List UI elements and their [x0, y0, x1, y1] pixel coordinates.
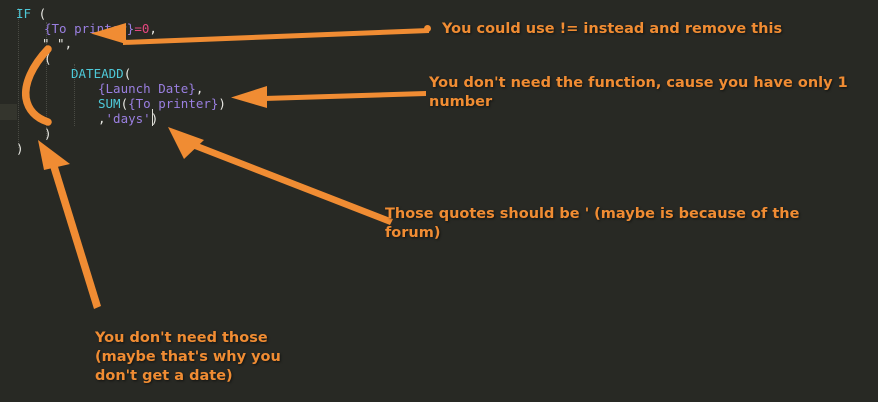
annotation-no-function-needed: You don't need the function, cause you h…	[429, 74, 854, 112]
annotation-bullet-dot	[424, 25, 431, 32]
code-line-4[interactable]: (	[44, 51, 52, 66]
token-equals-zero: =0	[134, 21, 149, 36]
annotation-quotes: Those quotes should be ' (maybe is becau…	[385, 205, 815, 243]
code-line-9[interactable]: )	[44, 126, 52, 141]
annotation-dont-need-those: You don't need those (maybe that's why y…	[95, 329, 375, 386]
indent-guide-1	[18, 8, 20, 148]
token-empty-string: " "	[42, 36, 65, 51]
token-open-paren-3: (	[124, 66, 132, 81]
code-line-8[interactable]: ,'days')	[98, 111, 158, 126]
token-fn-dateadd: DATEADD	[71, 66, 124, 81]
token-close-paren-3: )	[44, 126, 52, 141]
code-line-6[interactable]: {Launch Date},	[98, 81, 203, 96]
screenshot-root: ​ IF ( {To printer}=0, " ", ( DATEADD( {…	[0, 0, 878, 402]
token-comma-2: ,	[65, 36, 73, 51]
gutter-highlight-block	[0, 104, 17, 120]
token-open-paren-1: (	[39, 6, 47, 21]
code-line-2[interactable]: {To printer}=0,	[44, 21, 157, 36]
token-field-to-printer-2: {To printer}	[128, 96, 218, 111]
text-caret	[152, 109, 153, 126]
token-comma-1: ,	[149, 21, 157, 36]
token-open-paren-2: (	[44, 51, 52, 66]
token-fn-sum: SUM	[98, 96, 121, 111]
token-comma-3: ,	[196, 81, 204, 96]
token-close-paren-4: )	[16, 141, 24, 156]
token-close-paren-1: )	[218, 96, 226, 111]
token-if-keyword: IF	[16, 6, 31, 21]
token-comma-4: ,	[98, 111, 106, 126]
code-line-3[interactable]: " ",	[42, 36, 72, 51]
annotation-not-equal: You could use != instead and remove this	[442, 20, 862, 39]
code-line-1[interactable]: IF (	[16, 6, 46, 21]
code-line-10[interactable]: )	[16, 141, 24, 156]
code-line-7[interactable]: SUM({To printer})	[98, 96, 226, 111]
code-line-5[interactable]: DATEADD(	[71, 66, 131, 81]
code-editor[interactable]: ​ IF ( {To printer}=0, " ", ( DATEADD( {…	[0, 0, 360, 175]
token-days-literal: 'days'	[106, 111, 151, 126]
token-open-paren-4: (	[121, 96, 129, 111]
token-field-to-printer-1: {To printer}	[44, 21, 134, 36]
token-space-1	[31, 6, 39, 21]
token-field-launch-date: {Launch Date}	[98, 81, 196, 96]
